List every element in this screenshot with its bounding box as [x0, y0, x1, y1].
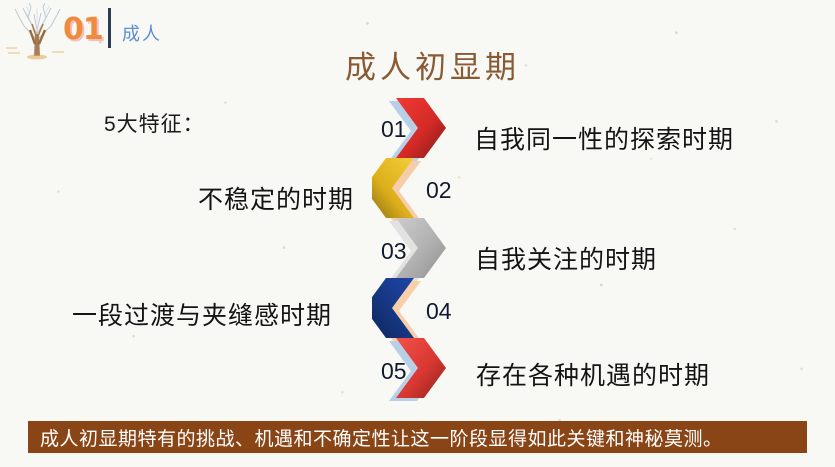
step-number-04: 04: [426, 298, 452, 325]
step-number-05: 05: [381, 358, 407, 385]
step-label-02: 不稳定的时期: [198, 180, 354, 216]
chevron-step-02: [372, 158, 421, 221]
chevron-step-04: [372, 278, 421, 341]
step-number-02: 02: [426, 177, 452, 204]
footer-banner: 成人初显期特有的挑战、机遇和不确定性让这一阶段显得如此关键和神秘莫测。: [28, 421, 807, 453]
step-label-04: 一段过渡与夹缝感时期: [72, 296, 332, 332]
page-title: 成人初显期: [0, 42, 835, 87]
step-number-03: 03: [381, 238, 407, 265]
features-caption: 5大特征：: [104, 108, 205, 138]
step-label-05: 存在各种机遇的时期: [476, 356, 710, 392]
step-label-01: 自我同一性的探索时期: [474, 120, 734, 156]
slide-canvas: 01 成人 成人初显期 5大特征：: [0, 0, 835, 467]
step-number-01: 01: [381, 116, 407, 143]
step-label-03: 自我关注的时期: [475, 240, 657, 276]
